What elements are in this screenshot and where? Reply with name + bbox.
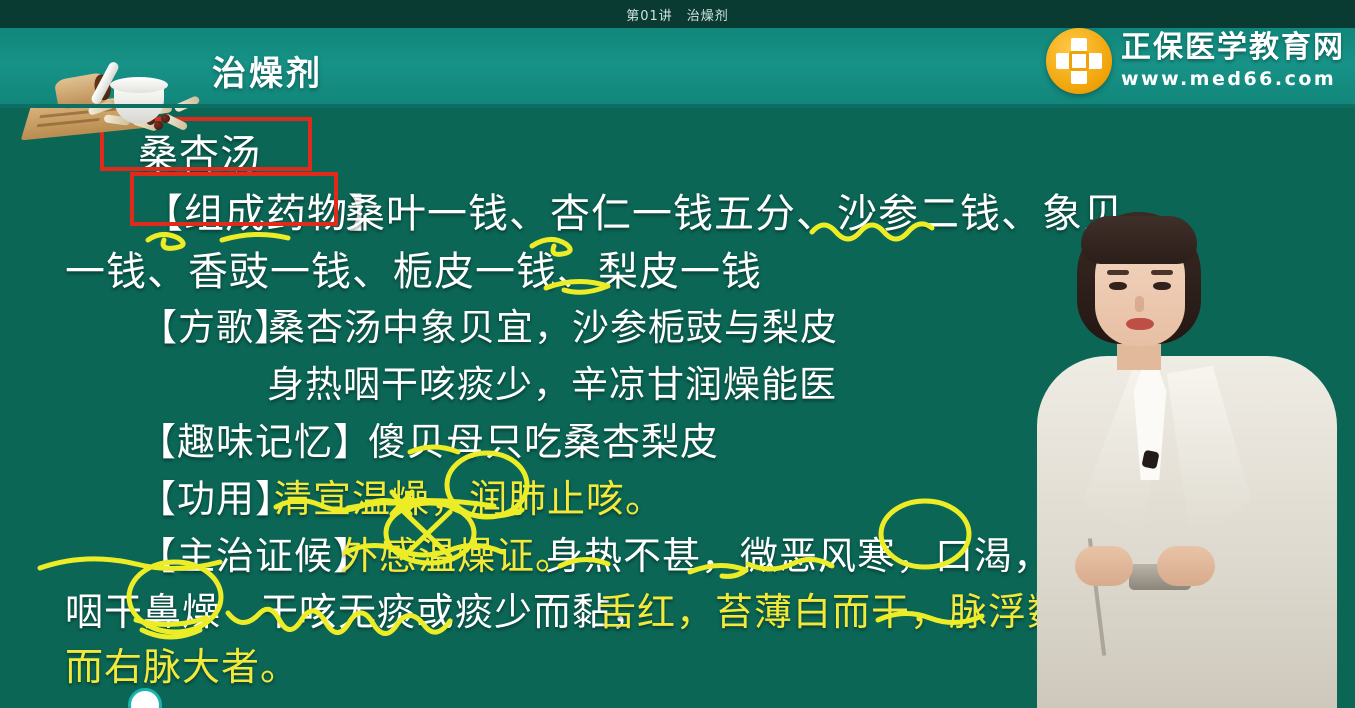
line-4-label: 【趣味记忆】	[138, 411, 372, 466]
lecture-video-frame: 第01讲 治燥剂 治燥剂	[0, 0, 1355, 708]
banner-title: 治燥剂	[212, 46, 323, 95]
line-0-body: 桑叶一钱、杏仁一钱五分、沙参二钱、象贝	[345, 181, 1124, 239]
line-6-label: 【主治证候】	[138, 525, 372, 580]
brand-url: www.med66.com	[1121, 70, 1345, 89]
brand-name: 正保医学教育网	[1121, 33, 1345, 63]
line-7-body-yellow: 舌红，苔薄白而干，脉浮数	[598, 581, 1066, 636]
line-4-body: 傻贝母只吃桑杏梨皮	[368, 411, 719, 466]
herb-mortar-pestle-icon	[22, 54, 212, 138]
line-1-body: 一钱、香豉一钱、栀皮一钱、梨皮一钱	[65, 239, 762, 297]
medical-cross-logo-icon	[1046, 28, 1112, 94]
line-7-body-white: 咽干鼻燥 干咳无痰或痰少而黏，	[65, 581, 650, 636]
lecture-title-text: 第01讲 治燥剂	[626, 5, 729, 24]
line-6-body-yellow: 外感温燥证。	[340, 525, 574, 580]
line-3-body: 身热咽干咳痰少，辛凉甘润燥能医	[267, 354, 837, 408]
line-5-body: 清宣温燥，润肺止咳。	[274, 468, 664, 523]
line-8-body-yellow: 而右脉大者。	[65, 636, 299, 691]
line-5-label: 【功用】	[138, 468, 294, 523]
presenter-video-overlay	[1025, 208, 1355, 708]
line-2-body: 桑杏汤中象贝宜，沙参栀豉与梨皮	[268, 297, 838, 351]
video-titlebar: 第01讲 治燥剂	[0, 0, 1355, 28]
brand-logo: 正保医学教育网 www.med66.com	[1046, 24, 1345, 98]
line-6-body-white: 身热不甚，微恶风寒，口渴，	[545, 525, 1052, 580]
